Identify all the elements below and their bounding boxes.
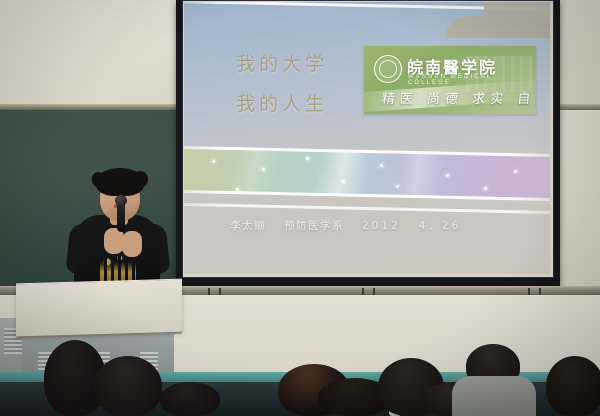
presentation-slide: 我的大学 我的人生 皖南醫学院 WANNAN MEDICAL COLLEGE 精… [184, 2, 550, 274]
podium-desktop [16, 279, 182, 337]
sparkle-icon [484, 187, 487, 190]
slide-title-line-1: 我的大学 [236, 44, 328, 84]
audience-head [546, 356, 600, 416]
presenter-name: 李太顺 [230, 218, 266, 233]
department-name: 预防医学系 [284, 218, 344, 233]
audience-head [160, 382, 220, 416]
sparkle-icon [342, 180, 345, 183]
slide-band-line-bottom-2 [184, 203, 550, 215]
audience-head [94, 356, 162, 416]
sparkle-icon [306, 157, 309, 160]
audience-shirt-grey [452, 376, 536, 416]
slide-title-line-2: 我的人生 [236, 84, 328, 124]
college-seal-icon [374, 55, 402, 83]
presenter-hand-right [122, 231, 142, 257]
microphone-head-icon [115, 195, 127, 206]
sparkle-icon [380, 164, 383, 167]
college-motto: 精医 尚德 求实 自强 [381, 88, 523, 107]
classroom-photo: 我的大学 我的人生 皖南醫学院 WANNAN MEDICAL COLLEGE 精… [0, 0, 600, 416]
college-name-english: WANNAN MEDICAL COLLEGE [408, 74, 536, 86]
sparkle-icon [262, 168, 265, 171]
sparkle-icon [446, 174, 449, 177]
college-logo-banner: 皖南醫学院 WANNAN MEDICAL COLLEGE 精医 尚德 求实 自强 [364, 46, 536, 114]
presentation-date: 4．26 [419, 218, 462, 233]
presenter-hair [96, 168, 144, 196]
slide-footer: 李太顺 预防医学系 2012 4．26 [230, 218, 530, 233]
sparkle-icon [514, 170, 517, 173]
sparkle-icon [212, 160, 215, 163]
presentation-year: 2012 [362, 220, 401, 232]
sparkle-icon [236, 188, 239, 191]
screen-shadow-patch-upper [484, 2, 550, 18]
sparkle-icon [396, 185, 399, 188]
slide-title: 我的大学 我的人生 [236, 44, 328, 124]
projection-screen: 我的大学 我的人生 皖南醫学院 WANNAN MEDICAL COLLEGE 精… [176, 0, 560, 288]
